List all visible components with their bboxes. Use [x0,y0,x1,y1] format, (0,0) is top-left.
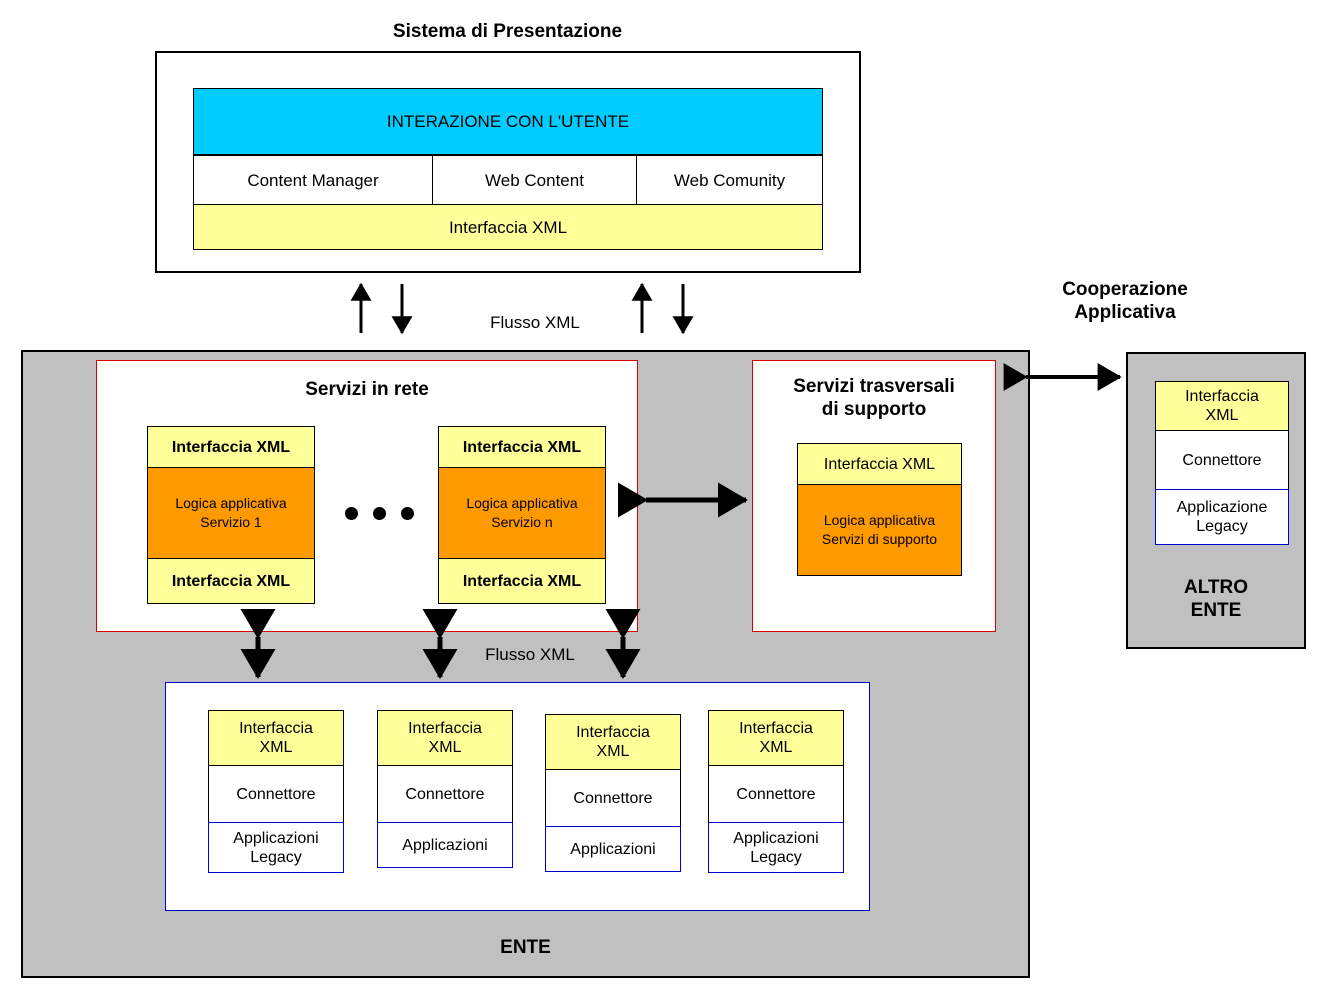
web-content-cell: Web Content [432,155,637,205]
altro-ente-app-line1: Applicazione [1177,498,1268,517]
connector-2-interface-line1: Interfaccia [408,719,482,738]
connector-2-connettore: Connettore [377,765,513,823]
ellipsis-dot-icon [401,507,414,520]
connector-4-interface-line2: XML [739,738,813,757]
altro-ente-label: ALTRO ENTE [1126,576,1306,622]
service-n-interface-bottom: Interfaccia XML [438,558,606,604]
connector-1-interface-line2: XML [239,738,313,757]
servizi-trasversali-title-line1: Servizi trasversali [752,375,996,398]
cooperazione-line1: Cooperazione [1000,278,1250,301]
connector-3-applications: Applicazioni [545,826,681,872]
service-1-interface-bottom: Interfaccia XML [147,558,315,604]
altro-ente-interface-line2: XML [1185,406,1259,425]
architecture-diagram: Sistema di Presentazione INTERAZIONE CON… [0,0,1327,998]
presentation-xml-interface: Interfaccia XML [193,204,823,250]
connector-4-interface-line1: Interfaccia [739,719,813,738]
ellipsis-dot-icon [345,507,358,520]
service-n-logic: Logica applicativa Servizio n [438,467,606,559]
presentation-system-title: Sistema di Presentazione [155,20,860,43]
servizi-trasversali-title-line2: di supporto [752,398,996,421]
altro-ente-connettore: Connettore [1155,430,1289,490]
connector-1-interface-line1: Interfaccia [239,719,313,738]
content-manager-cell: Content Manager [193,155,433,205]
flusso-xml-top-label: Flusso XML [420,313,650,333]
ellipsis-dot-icon [373,507,386,520]
cooperazione-line2: Applicativa [1000,301,1250,324]
service-n-logic-line2: Servizio n [466,513,577,532]
connector-1-app-line2: Legacy [233,848,318,867]
connector-4-app-line1: Applicazioni [733,829,818,848]
service-n-interface-top: Interfaccia XML [438,426,606,468]
service-1-logic: Logica applicativa Servizio 1 [147,467,315,559]
connector-4-applications: Applicazioni Legacy [708,822,844,873]
ente-label: ENTE [21,936,1030,959]
cooperazione-applicativa-label: Cooperazione Applicativa [1000,278,1250,324]
service-1-interface-top: Interfaccia XML [147,426,315,468]
connector-4-interface: Interfaccia XML [708,710,844,766]
connector-1-applications: Applicazioni Legacy [208,822,344,873]
support-logic-line2: Servizi di supporto [822,530,937,549]
servizi-trasversali-title: Servizi trasversali di supporto [752,375,996,421]
connector-1-interface: Interfaccia XML [208,710,344,766]
support-interface: Interfaccia XML [797,443,962,485]
connector-4-app-line2: Legacy [733,848,818,867]
connector-4-connettore: Connettore [708,765,844,823]
altro-ente-interface-line1: Interfaccia [1185,387,1259,406]
connector-3-interface-line1: Interfaccia [576,723,650,742]
altro-ente-app-line2: Legacy [1177,517,1268,536]
service-1-logic-line1: Logica applicativa [175,494,286,513]
connector-3-interface: Interfaccia XML [545,714,681,770]
connector-2-interface-line2: XML [408,738,482,757]
connector-1-app-line1: Applicazioni [233,829,318,848]
web-comunity-cell: Web Comunity [636,155,823,205]
service-1-logic-line2: Servizio 1 [175,513,286,532]
support-logic: Logica applicativa Servizi di supporto [797,484,962,576]
connector-3-connettore: Connettore [545,769,681,827]
user-interaction-block: INTERAZIONE CON L'UTENTE [193,88,823,155]
flusso-xml-middle-label: Flusso XML [415,645,645,665]
connector-3-interface-line2: XML [576,742,650,761]
connector-2-applications: Applicazioni [377,822,513,868]
support-logic-line1: Logica applicativa [822,511,937,530]
connector-2-interface: Interfaccia XML [377,710,513,766]
service-n-logic-line1: Logica applicativa [466,494,577,513]
servizi-in-rete-title: Servizi in rete [96,378,638,401]
altro-ente-label-line2: ENTE [1126,599,1306,622]
altro-ente-label-line1: ALTRO [1126,576,1306,599]
altro-ente-interface: Interfaccia XML [1155,381,1289,431]
altro-ente-applications: Applicazione Legacy [1155,489,1289,545]
connector-1-connettore: Connettore [208,765,344,823]
